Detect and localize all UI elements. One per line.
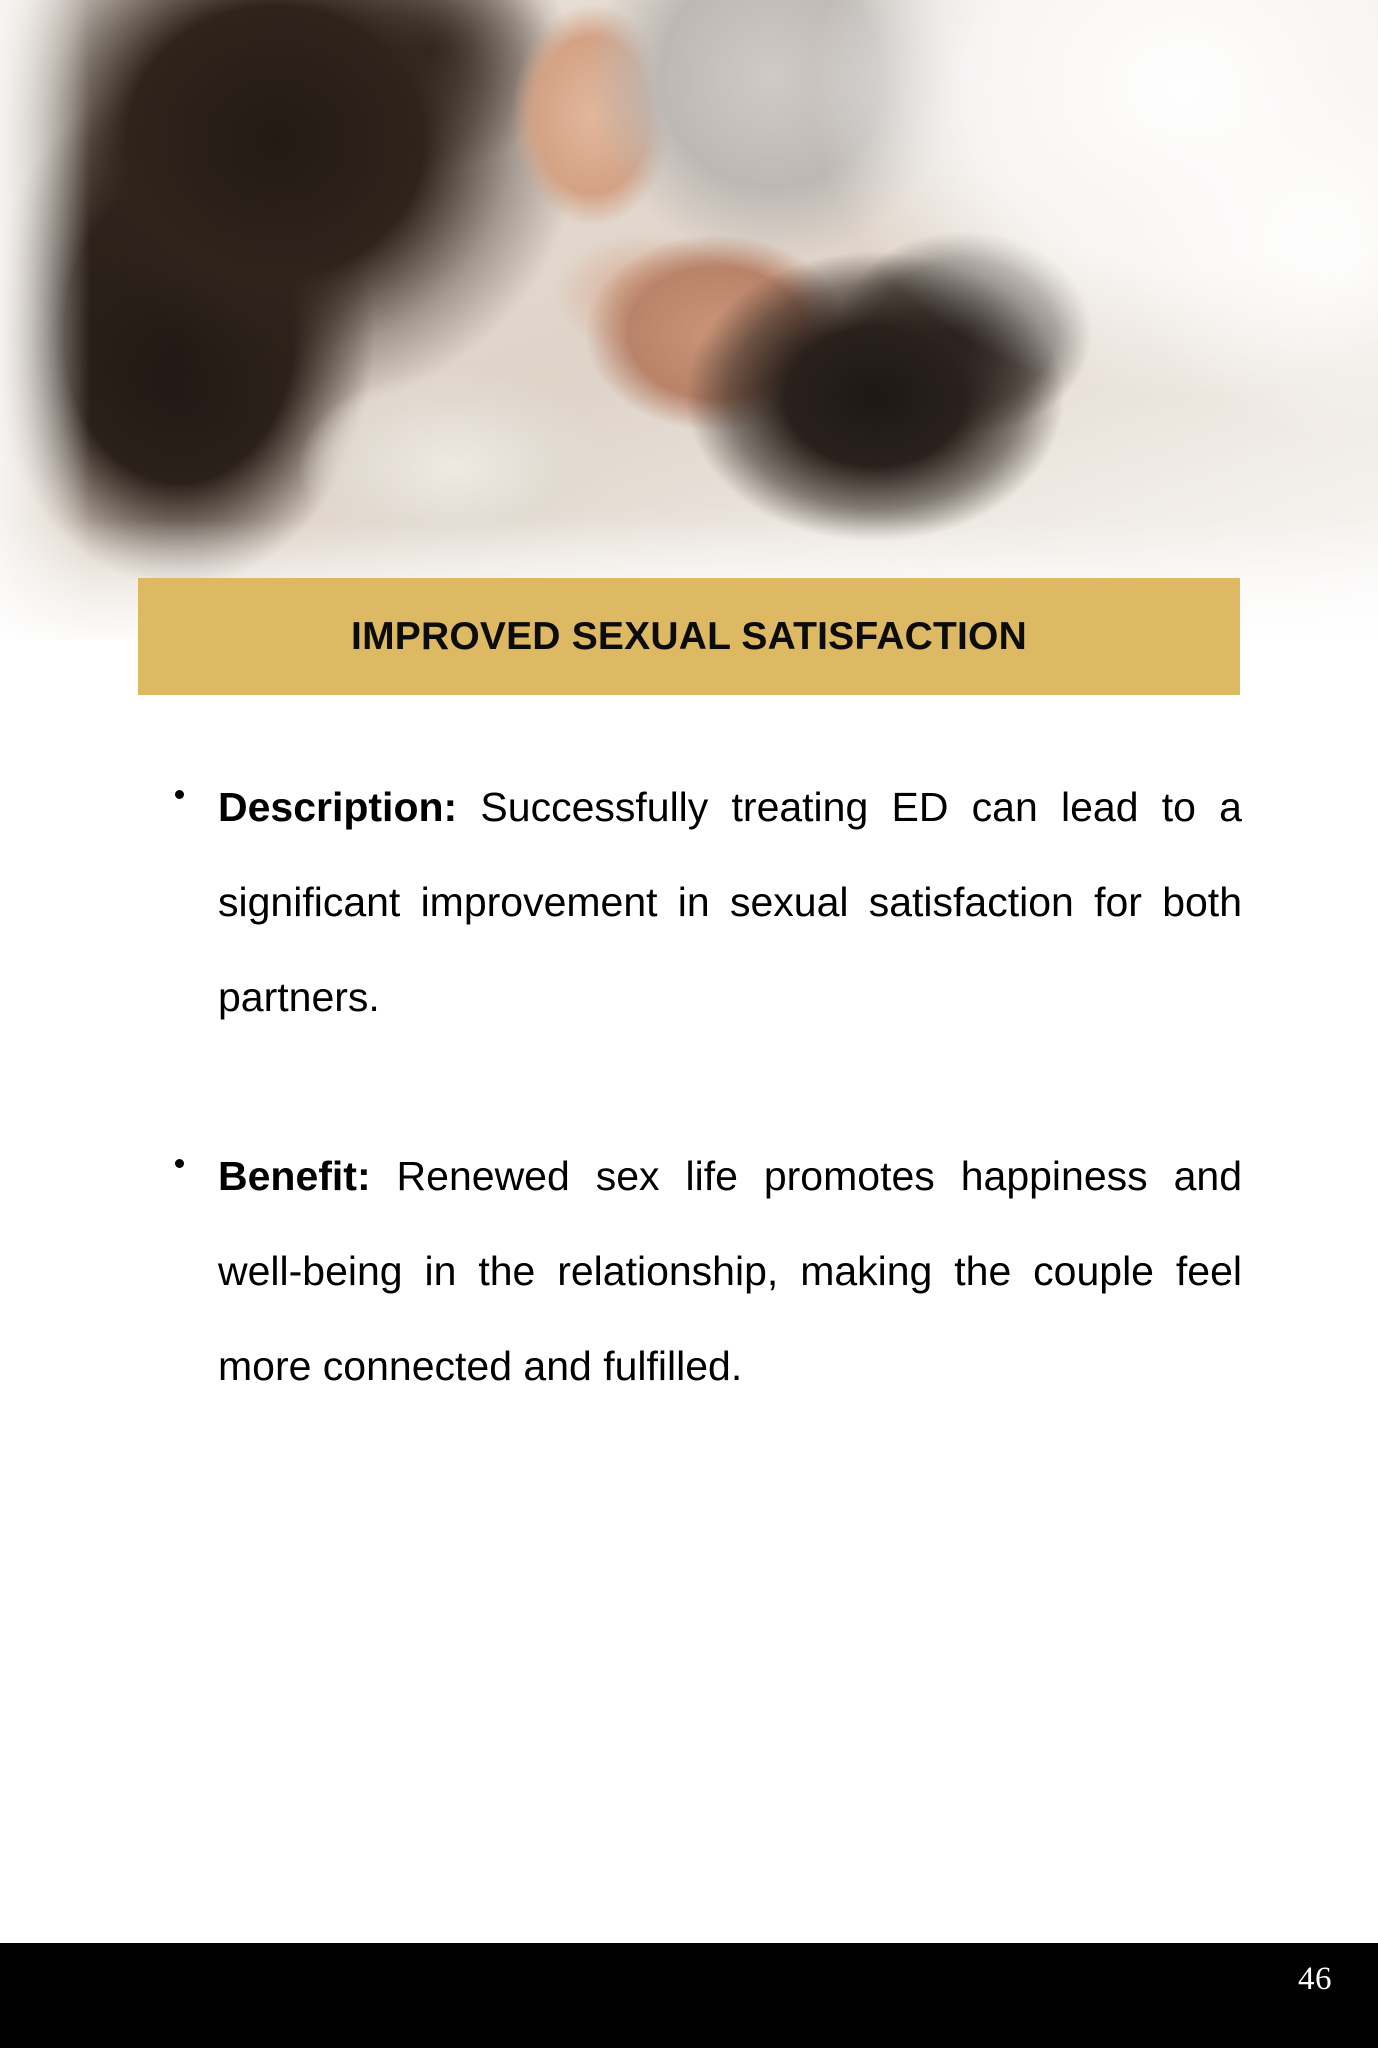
- bullet-dot-icon: [175, 790, 184, 799]
- footer-bar: 46: [0, 1943, 1378, 2048]
- slide-title: IMPROVED SEXUAL SATISFACTION: [351, 617, 1027, 656]
- slide-46: IMPROVED SEXUAL SATISFACTION Description…: [0, 0, 1378, 2048]
- bullet-lead-label: Benefit:: [218, 1153, 371, 1199]
- bullet-dot-icon: [175, 1159, 184, 1168]
- hero-image: [0, 0, 1378, 640]
- bullet-lead-label: Description:: [218, 784, 457, 830]
- bullet-body-text: Renewed sex life promotes happiness and …: [218, 1153, 1242, 1389]
- bullet-text: Description: Successfully treating ED ca…: [218, 760, 1242, 1045]
- list-item: Description: Successfully treating ED ca…: [0, 760, 1378, 1045]
- title-banner: IMPROVED SEXUAL SATISFACTION: [138, 578, 1240, 695]
- bullet-list: Description: Successfully treating ED ca…: [0, 760, 1378, 1414]
- list-item: Benefit: Renewed sex life promotes happi…: [0, 1129, 1378, 1414]
- page-number: 46: [1298, 1963, 1332, 1996]
- bullet-text: Benefit: Renewed sex life promotes happi…: [218, 1129, 1242, 1414]
- content-body: Description: Successfully treating ED ca…: [0, 760, 1378, 1414]
